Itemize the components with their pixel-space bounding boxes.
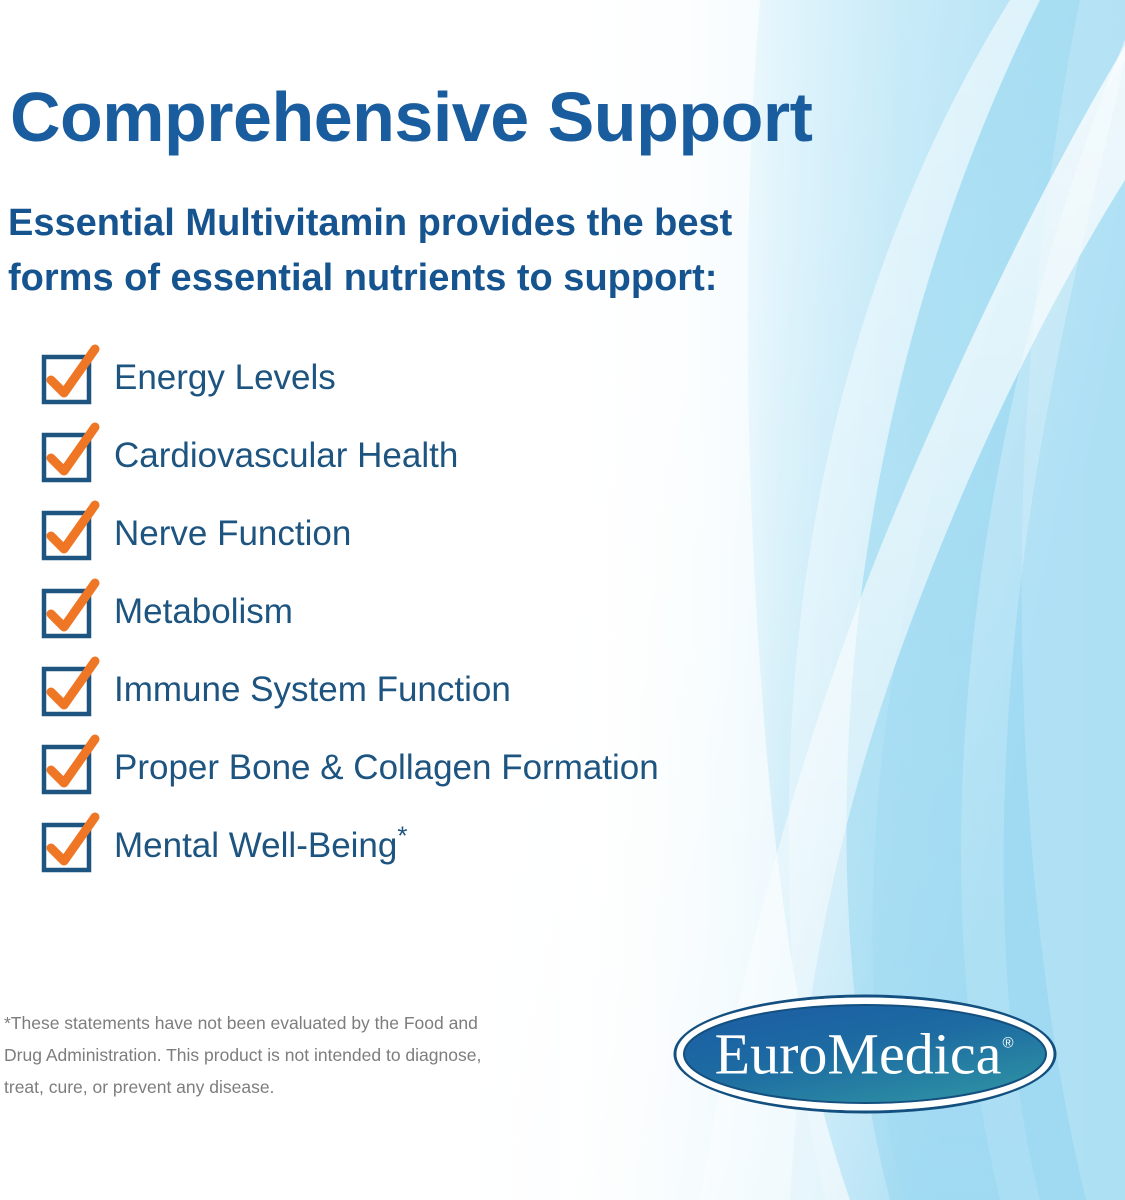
checked-checkbox-icon (44, 357, 89, 402)
benefit-label: Proper Bone & Collagen Formation (114, 750, 659, 788)
subheading: Essential Multivitamin provides the best… (8, 196, 888, 306)
benefit-item-mental-well-being: Mental Well-Being* (0, 808, 900, 886)
disclaimer-line-1: *These statements have not been evaluate… (4, 1008, 564, 1040)
checked-checkbox-icon (44, 591, 89, 636)
benefit-item-energy-levels: Energy Levels (0, 340, 900, 418)
logo-wordmark: EuroMedica (715, 1022, 1002, 1087)
checked-checkbox-icon (44, 435, 89, 480)
checked-checkbox-icon (44, 669, 89, 714)
benefit-label: Energy Levels (114, 360, 336, 398)
benefit-label: Nerve Function (114, 516, 351, 554)
benefit-label: Immune System Function (114, 672, 511, 710)
benefit-item-metabolism: Metabolism (0, 574, 900, 652)
disclaimer-line-2: Drug Administration. This product is not… (4, 1040, 564, 1072)
benefit-label: Metabolism (114, 594, 293, 632)
euromedica-logo: EuroMedica ® (672, 993, 1058, 1115)
benefit-list: Energy Levels Cardiovascular Health (0, 340, 900, 886)
benefit-label: Mental Well-Being* (114, 828, 408, 866)
benefit-item-nerve-function: Nerve Function (0, 496, 900, 574)
page-title: Comprehensive Support (10, 82, 812, 152)
fda-disclaimer: *These statements have not been evaluate… (4, 1008, 564, 1104)
poster-canvas: Comprehensive Support Essential Multivit… (0, 0, 1125, 1200)
subheading-line-2: forms of essential nutrients to support: (8, 251, 888, 306)
checked-checkbox-icon (44, 825, 89, 870)
subheading-line-1: Essential Multivitamin provides the best (8, 196, 888, 251)
checked-checkbox-icon (44, 513, 89, 558)
checked-checkbox-icon (44, 747, 89, 792)
disclaimer-line-3: treat, cure, or prevent any disease. (4, 1072, 564, 1104)
benefit-item-immune-system-function: Immune System Function (0, 652, 900, 730)
registered-trademark-icon: ® (1002, 1035, 1013, 1052)
benefit-item-cardiovascular-health: Cardiovascular Health (0, 418, 900, 496)
benefit-item-proper-bone-collagen-formation: Proper Bone & Collagen Formation (0, 730, 900, 808)
benefit-label: Cardiovascular Health (114, 438, 458, 476)
